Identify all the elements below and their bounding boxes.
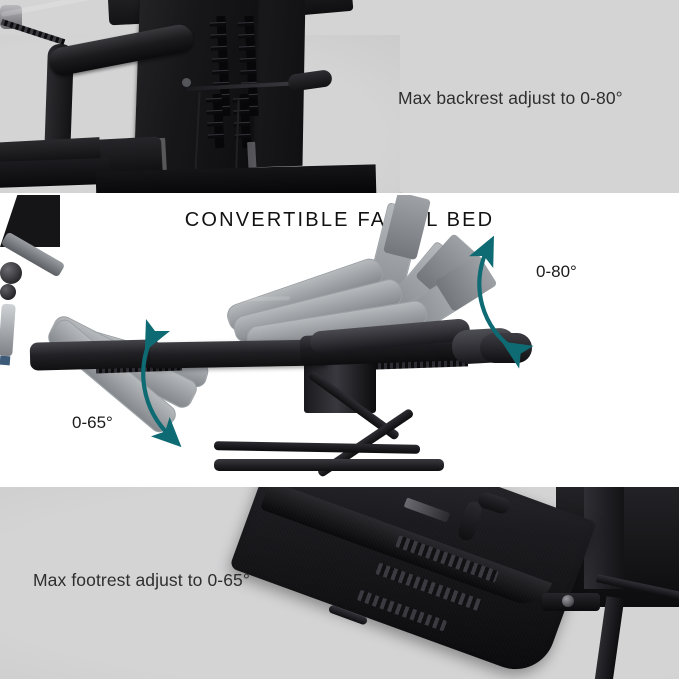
headrest-cushion-inner: [480, 333, 532, 363]
footrest-callout-text: Max footrest adjust to 0-65°: [33, 570, 250, 591]
lever-pivot-knob: [182, 78, 191, 87]
base-crossbar: [214, 441, 420, 454]
backrest-angle-label: 0-80°: [536, 262, 577, 282]
panel-divider-bottom: [0, 485, 679, 487]
backrest-closeup-photo: [0, 0, 400, 193]
facial-bed-illustration: [0, 193, 679, 487]
hand-remote-control: [0, 304, 16, 357]
caster-wheel: [0, 284, 16, 300]
seat-rail-lower: [0, 158, 110, 188]
center-column: [304, 361, 376, 413]
base-rail: [214, 459, 444, 471]
bottom-panel: Max footrest adjust to 0-65°: [0, 487, 679, 679]
panel-divider-top: [0, 193, 679, 195]
footrest-section: [30, 339, 161, 370]
caster-wheel: [0, 262, 22, 284]
infographic-page: Max backrest adjust to 0-80° CONVERTIBLE…: [0, 0, 679, 679]
footrest-angle-label: 0-65°: [72, 413, 113, 433]
top-panel: Max backrest adjust to 0-80°: [0, 0, 679, 193]
backrest-callout-text: Max backrest adjust to 0-80°: [398, 88, 623, 109]
remote-button-panel: [0, 356, 10, 366]
